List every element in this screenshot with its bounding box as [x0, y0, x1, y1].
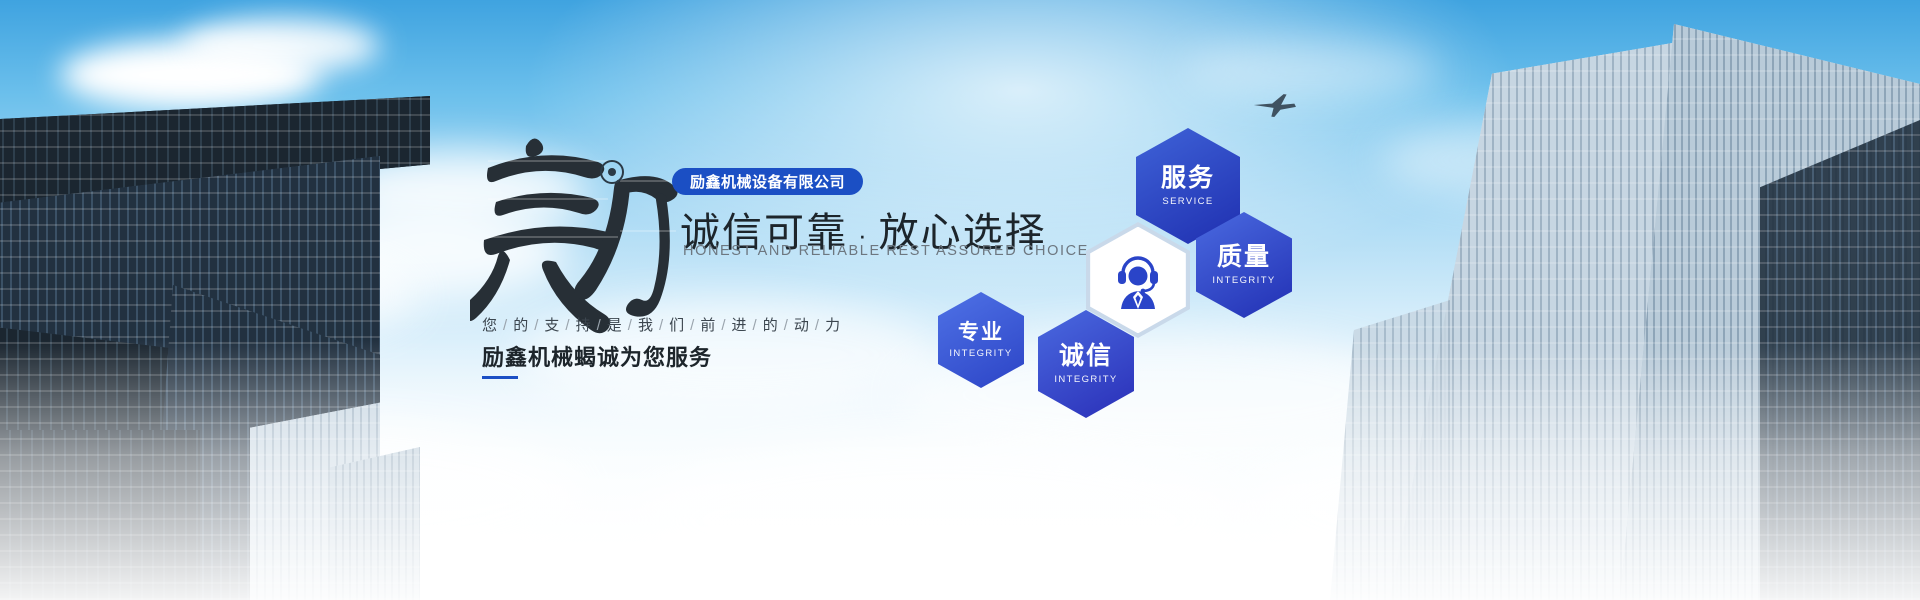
- calligraphy-shili: [470, 120, 690, 340]
- service-line: 励鑫机械蝎诚为您服务: [482, 340, 712, 372]
- support-separator: /: [779, 317, 794, 334]
- accent-rule: [482, 376, 518, 379]
- support-separator: /: [498, 317, 513, 334]
- support-char: 支: [544, 317, 560, 334]
- hex-quality-subtitle: INTEGRITY: [1212, 275, 1275, 286]
- hex-integrity-subtitle: INTEGRITY: [1054, 374, 1117, 385]
- support-separator: /: [560, 317, 575, 334]
- hex-professional-title: 专业: [958, 322, 1004, 343]
- support-separator: /: [685, 317, 700, 334]
- support-char: 我: [638, 317, 654, 334]
- cloud: [1180, 40, 1440, 100]
- support-separator: /: [810, 317, 825, 334]
- cloud: [180, 18, 380, 74]
- support-char: 们: [669, 317, 685, 334]
- bottom-haze: [0, 340, 1920, 600]
- hex-service-subtitle: SERVICE: [1162, 196, 1213, 207]
- support-char: 前: [700, 317, 716, 334]
- support-separator: /: [623, 317, 638, 334]
- support-separator: /: [529, 317, 544, 334]
- support-separator: /: [716, 317, 731, 334]
- support-char: 的: [513, 317, 529, 334]
- target-dot-icon: [600, 160, 624, 184]
- support-separator: /: [592, 317, 607, 334]
- headset-agent-icon: [1111, 251, 1165, 309]
- company-badge: 励鑫机械设备有限公司: [672, 168, 863, 195]
- support-separator: /: [748, 317, 763, 334]
- support-char: 持: [576, 317, 592, 334]
- promo-banner: 励鑫机械设备有限公司 诚信可靠·放心选择 HONEST AND RELIABLE…: [0, 0, 1920, 600]
- hex-service-title: 服务: [1161, 166, 1215, 191]
- hex-quality-title: 质量: [1217, 245, 1271, 270]
- hex-agent-inner: [1090, 227, 1186, 334]
- hex-professional-subtitle: INTEGRITY: [949, 348, 1012, 359]
- support-char: 的: [763, 317, 779, 334]
- slogan-english: HONEST AND RELIABLE REST ASSURED CHOICE: [683, 243, 1089, 259]
- hex-integrity-title: 诚信: [1059, 344, 1113, 369]
- support-separator: /: [654, 317, 669, 334]
- support-char: 进: [732, 317, 748, 334]
- support-char: 是: [607, 317, 623, 334]
- support-char: 您: [482, 317, 498, 334]
- support-char: 力: [825, 317, 841, 334]
- airplane-icon: [1252, 92, 1298, 123]
- support-char: 动: [794, 317, 810, 334]
- support-line: 您/的/支/持/是/我/们/前/进/的/动/力: [482, 314, 841, 335]
